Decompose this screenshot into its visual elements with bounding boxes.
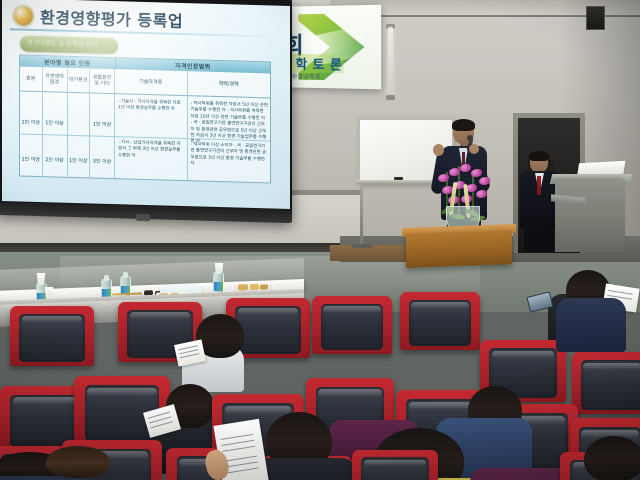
col-header-total: 총원	[20, 66, 43, 91]
podium	[555, 180, 625, 252]
audience-person-body	[556, 298, 626, 352]
whiteboard-leg-left	[360, 184, 363, 246]
cell-certificate-row2: - 기사 - 산업기사자격을 취득한 자로서 그 밖에 3년 이상 환경실무를 …	[118, 140, 185, 161]
audience-person-head	[584, 436, 640, 480]
projection-slide: 환경영향평가 등록업 평가대행업 및 등록업 요건 분야별 필요 인원 자격인정…	[2, 0, 290, 209]
seat-gloss	[323, 306, 381, 313]
tube-light-cap-bottom	[386, 95, 395, 100]
presenter-right-hand	[469, 144, 479, 154]
row-divider	[43, 134, 67, 136]
table-col-air-environment: 1인 이상	[68, 92, 91, 178]
seat-gloss	[130, 312, 190, 319]
presenter-hair	[452, 119, 475, 131]
col-header-living-environment: 생활환경 및 기타	[90, 68, 115, 93]
cell-career-row2: - 석사학위 이상 소지자 - 국ㆍ공립연구기관 출연연구기관의 근무자 및 환…	[191, 142, 269, 170]
cell-air-row1	[68, 121, 90, 122]
table-col-total: 1인 이상 1인 이상	[20, 90, 43, 176]
row-divider	[20, 133, 42, 135]
handout-text-line	[222, 446, 255, 452]
snack-item	[260, 284, 268, 289]
audience-seating-area	[0, 300, 640, 480]
auditorium-seat	[352, 450, 438, 480]
handout-text-line	[220, 434, 253, 440]
table-col-living-environment: 1인 이상 3인 이상	[90, 92, 115, 178]
table-col-natural-ecology: 1인 이상 2인 이상	[43, 91, 68, 177]
seat-gloss	[318, 389, 381, 397]
cell-total-row2: 1인 이상	[20, 157, 42, 164]
cell-ecology-row1: 1인 이상	[43, 120, 67, 127]
auditorium-seat	[572, 352, 640, 414]
row-divider	[68, 134, 90, 136]
seat-gloss	[87, 388, 156, 396]
col-header-natural-ecology: 자연생태환경	[43, 67, 68, 92]
bottle-label	[214, 282, 223, 291]
slide-subheader-bar: 평가대행업 및 등록업 요건	[20, 34, 118, 54]
seat-gloss	[225, 406, 291, 414]
table-col-education-career: - 박사학위를 취득한 자로서 5년 이상 관련 기술무를 수행한 자 - 석사…	[188, 95, 271, 182]
seat-gloss	[583, 363, 640, 370]
snack-item	[250, 284, 259, 290]
handout-text-line	[224, 456, 257, 462]
orchid-petal	[479, 177, 490, 185]
seat-gloss	[22, 316, 82, 323]
gold-orb-icon	[14, 6, 33, 26]
podium-person-hair	[529, 151, 549, 161]
seat-gloss	[238, 308, 298, 315]
col-header-technical-certificate: 기술자격증	[115, 69, 188, 95]
podium-person-red-tie	[537, 176, 541, 195]
seat-gloss	[409, 402, 474, 410]
orchid-petal	[460, 164, 471, 172]
slide-subheader-text: 평가대행업 및 등록업 요건	[27, 38, 98, 49]
slide-title: 환경영향평가 등록업	[40, 4, 183, 32]
flower-stand	[406, 230, 512, 268]
whiteboard-foot	[352, 244, 372, 248]
cell-certificate-row1: - 기술사 - 기사자격을 취득한 자로 1년 이상 환경실무를 수행한 자	[118, 99, 185, 114]
fluorescent-tube-light-icon	[388, 27, 393, 97]
table-col-technical-certificate: - 기술사 - 기사자격을 취득한 자로 1년 이상 환경실무를 수행한 자 -…	[115, 93, 188, 180]
slide-table-body: 1인 이상 1인 이상 1인 이상 2인 이상 1인 이상 1인 이상 3인 이…	[20, 90, 270, 182]
handout-text-line	[608, 290, 632, 295]
cell-air-row2: 1인 이상	[68, 158, 90, 165]
col-header-education-career: 학력/경력	[188, 71, 271, 97]
orchid-petal	[471, 169, 482, 177]
col-header-air-environment: 대기환경	[68, 68, 91, 93]
cell-ecology-row2: 2인 이상	[43, 157, 67, 164]
cell-career-row1: - 박사학위를 취득한 자로서 5년 이상 관련 기술무를 수행한 자 - 석사…	[191, 101, 269, 148]
handout-text-line	[221, 440, 254, 446]
audience-person-head	[46, 446, 110, 478]
seminar-photo-scene: 수회 구 전 학 토 론 산업대학교 환경공학과 환경영향평가 등록업 평가대행…	[0, 0, 640, 480]
seat-gloss	[411, 302, 469, 309]
auditorium-seat	[400, 292, 480, 350]
auditorium-seat	[10, 306, 94, 366]
handout-text-line	[225, 467, 258, 473]
slide-table: 분야별 필요 인원 자격인정범위 총원 자연생태환경 대기환경 생활환경 및 기…	[19, 54, 271, 183]
row-divider	[90, 135, 114, 137]
orchid-petal	[476, 190, 487, 198]
projection-screen-pull-knob	[136, 214, 150, 221]
wall-speaker-box-icon	[586, 6, 605, 30]
auditorium-seat	[312, 296, 392, 354]
cell-total-row1: 1인 이상	[20, 119, 42, 126]
podium-person-legs	[524, 227, 554, 252]
presenter-left-hand	[433, 144, 444, 156]
row-divider	[115, 136, 187, 139]
seat-gloss	[492, 351, 554, 358]
seat-gloss	[364, 460, 426, 467]
whiteboard-marker-icon	[394, 177, 403, 180]
microphone-head-icon	[467, 135, 473, 141]
handout-text-line	[179, 353, 199, 358]
cell-living-row1: 1인 이상	[90, 121, 114, 128]
snack-item	[238, 284, 248, 290]
seat-gloss	[13, 397, 79, 405]
cell-living-row2: 3인 이상	[90, 159, 114, 166]
handout-text-line	[225, 462, 258, 468]
